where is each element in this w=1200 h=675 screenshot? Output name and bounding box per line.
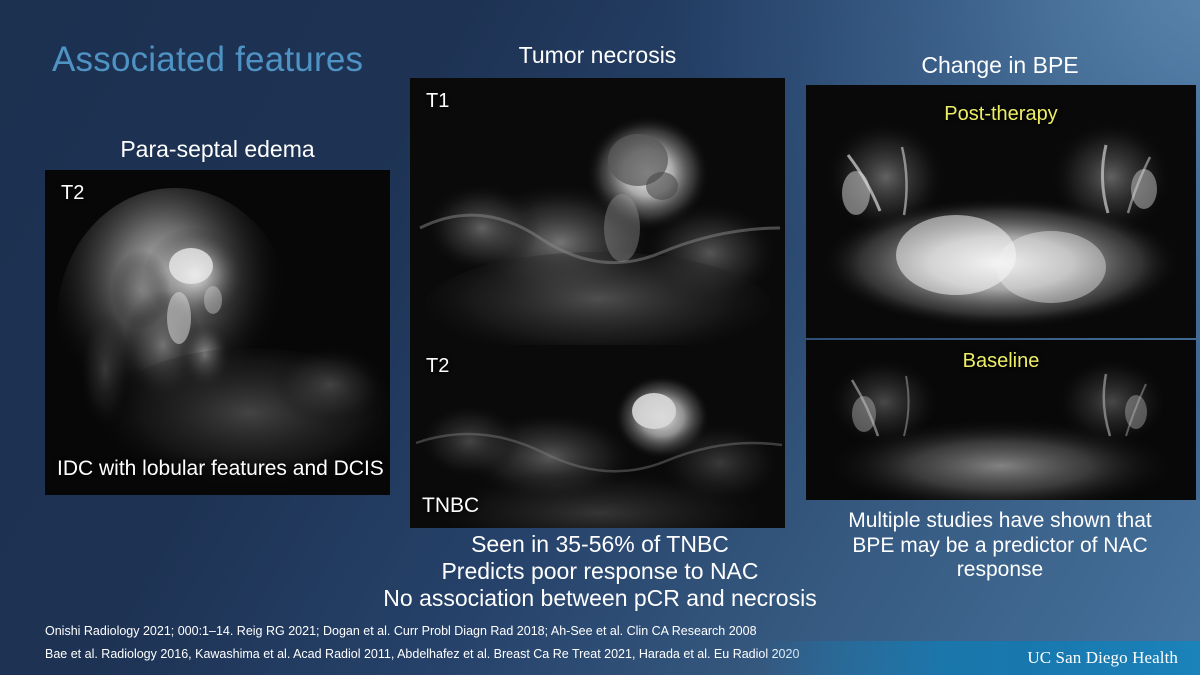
sequence-label-t2: T2 xyxy=(61,182,84,205)
caption-change-in-bpe: Multiple studies have shown that BPE may… xyxy=(800,509,1200,583)
caption-line: Multiple studies have shown that xyxy=(800,509,1200,534)
mri-image-t1-tumor-necrosis: T1 xyxy=(410,78,785,345)
sequence-label-t2: T2 xyxy=(426,355,449,378)
phase-label-post-therapy: Post-therapy xyxy=(806,103,1196,126)
mri-image-post-therapy: Post-therapy xyxy=(806,85,1196,338)
presentation-slide: Associated features Para-septal edema xyxy=(0,0,1200,675)
citation-line-2: Bae et al. Radiology 2016, Kawashima et … xyxy=(45,643,799,666)
caption-line: Seen in 35-56% of TNBC xyxy=(370,531,830,558)
image-caption-idc: IDC with lobular features and DCIS xyxy=(57,457,384,481)
mri-anatomy-graphic xyxy=(45,170,390,495)
caption-line: BPE may be a predictor of NAC xyxy=(800,534,1200,559)
panel-heading-tumor-necrosis: Tumor necrosis xyxy=(410,42,785,69)
caption-line: Predicts poor response to NAC xyxy=(370,558,830,585)
caption-tumor-necrosis: Seen in 35-56% of TNBC Predicts poor res… xyxy=(370,531,830,612)
citations-block: Onishi Radiology 2021; 000:1–14. Reig RG… xyxy=(45,620,799,666)
mri-image-t2-tumor-necrosis: T2 TNBC xyxy=(410,345,785,528)
caption-line: No association between pCR and necrosis xyxy=(370,585,830,612)
mri-image-baseline: Baseline xyxy=(806,340,1196,500)
panel-heading-para-septal-edema: Para-septal edema xyxy=(45,136,390,163)
citation-line-1: Onishi Radiology 2021; 000:1–14. Reig RG… xyxy=(45,620,799,643)
uc-san-diego-health-logo: UC San Diego Health xyxy=(1027,648,1178,668)
mri-image-para-septal-edema: T2 IDC with lobular features and DCIS xyxy=(45,170,390,495)
page-title: Associated features xyxy=(52,40,363,80)
phase-label-baseline: Baseline xyxy=(806,350,1196,373)
subtype-label-tnbc: TNBC xyxy=(422,494,479,518)
panel-heading-change-in-bpe: Change in BPE xyxy=(805,52,1195,79)
sequence-label-t1: T1 xyxy=(426,90,449,113)
mri-anatomy-graphic xyxy=(410,78,785,345)
caption-line: response xyxy=(800,558,1200,583)
